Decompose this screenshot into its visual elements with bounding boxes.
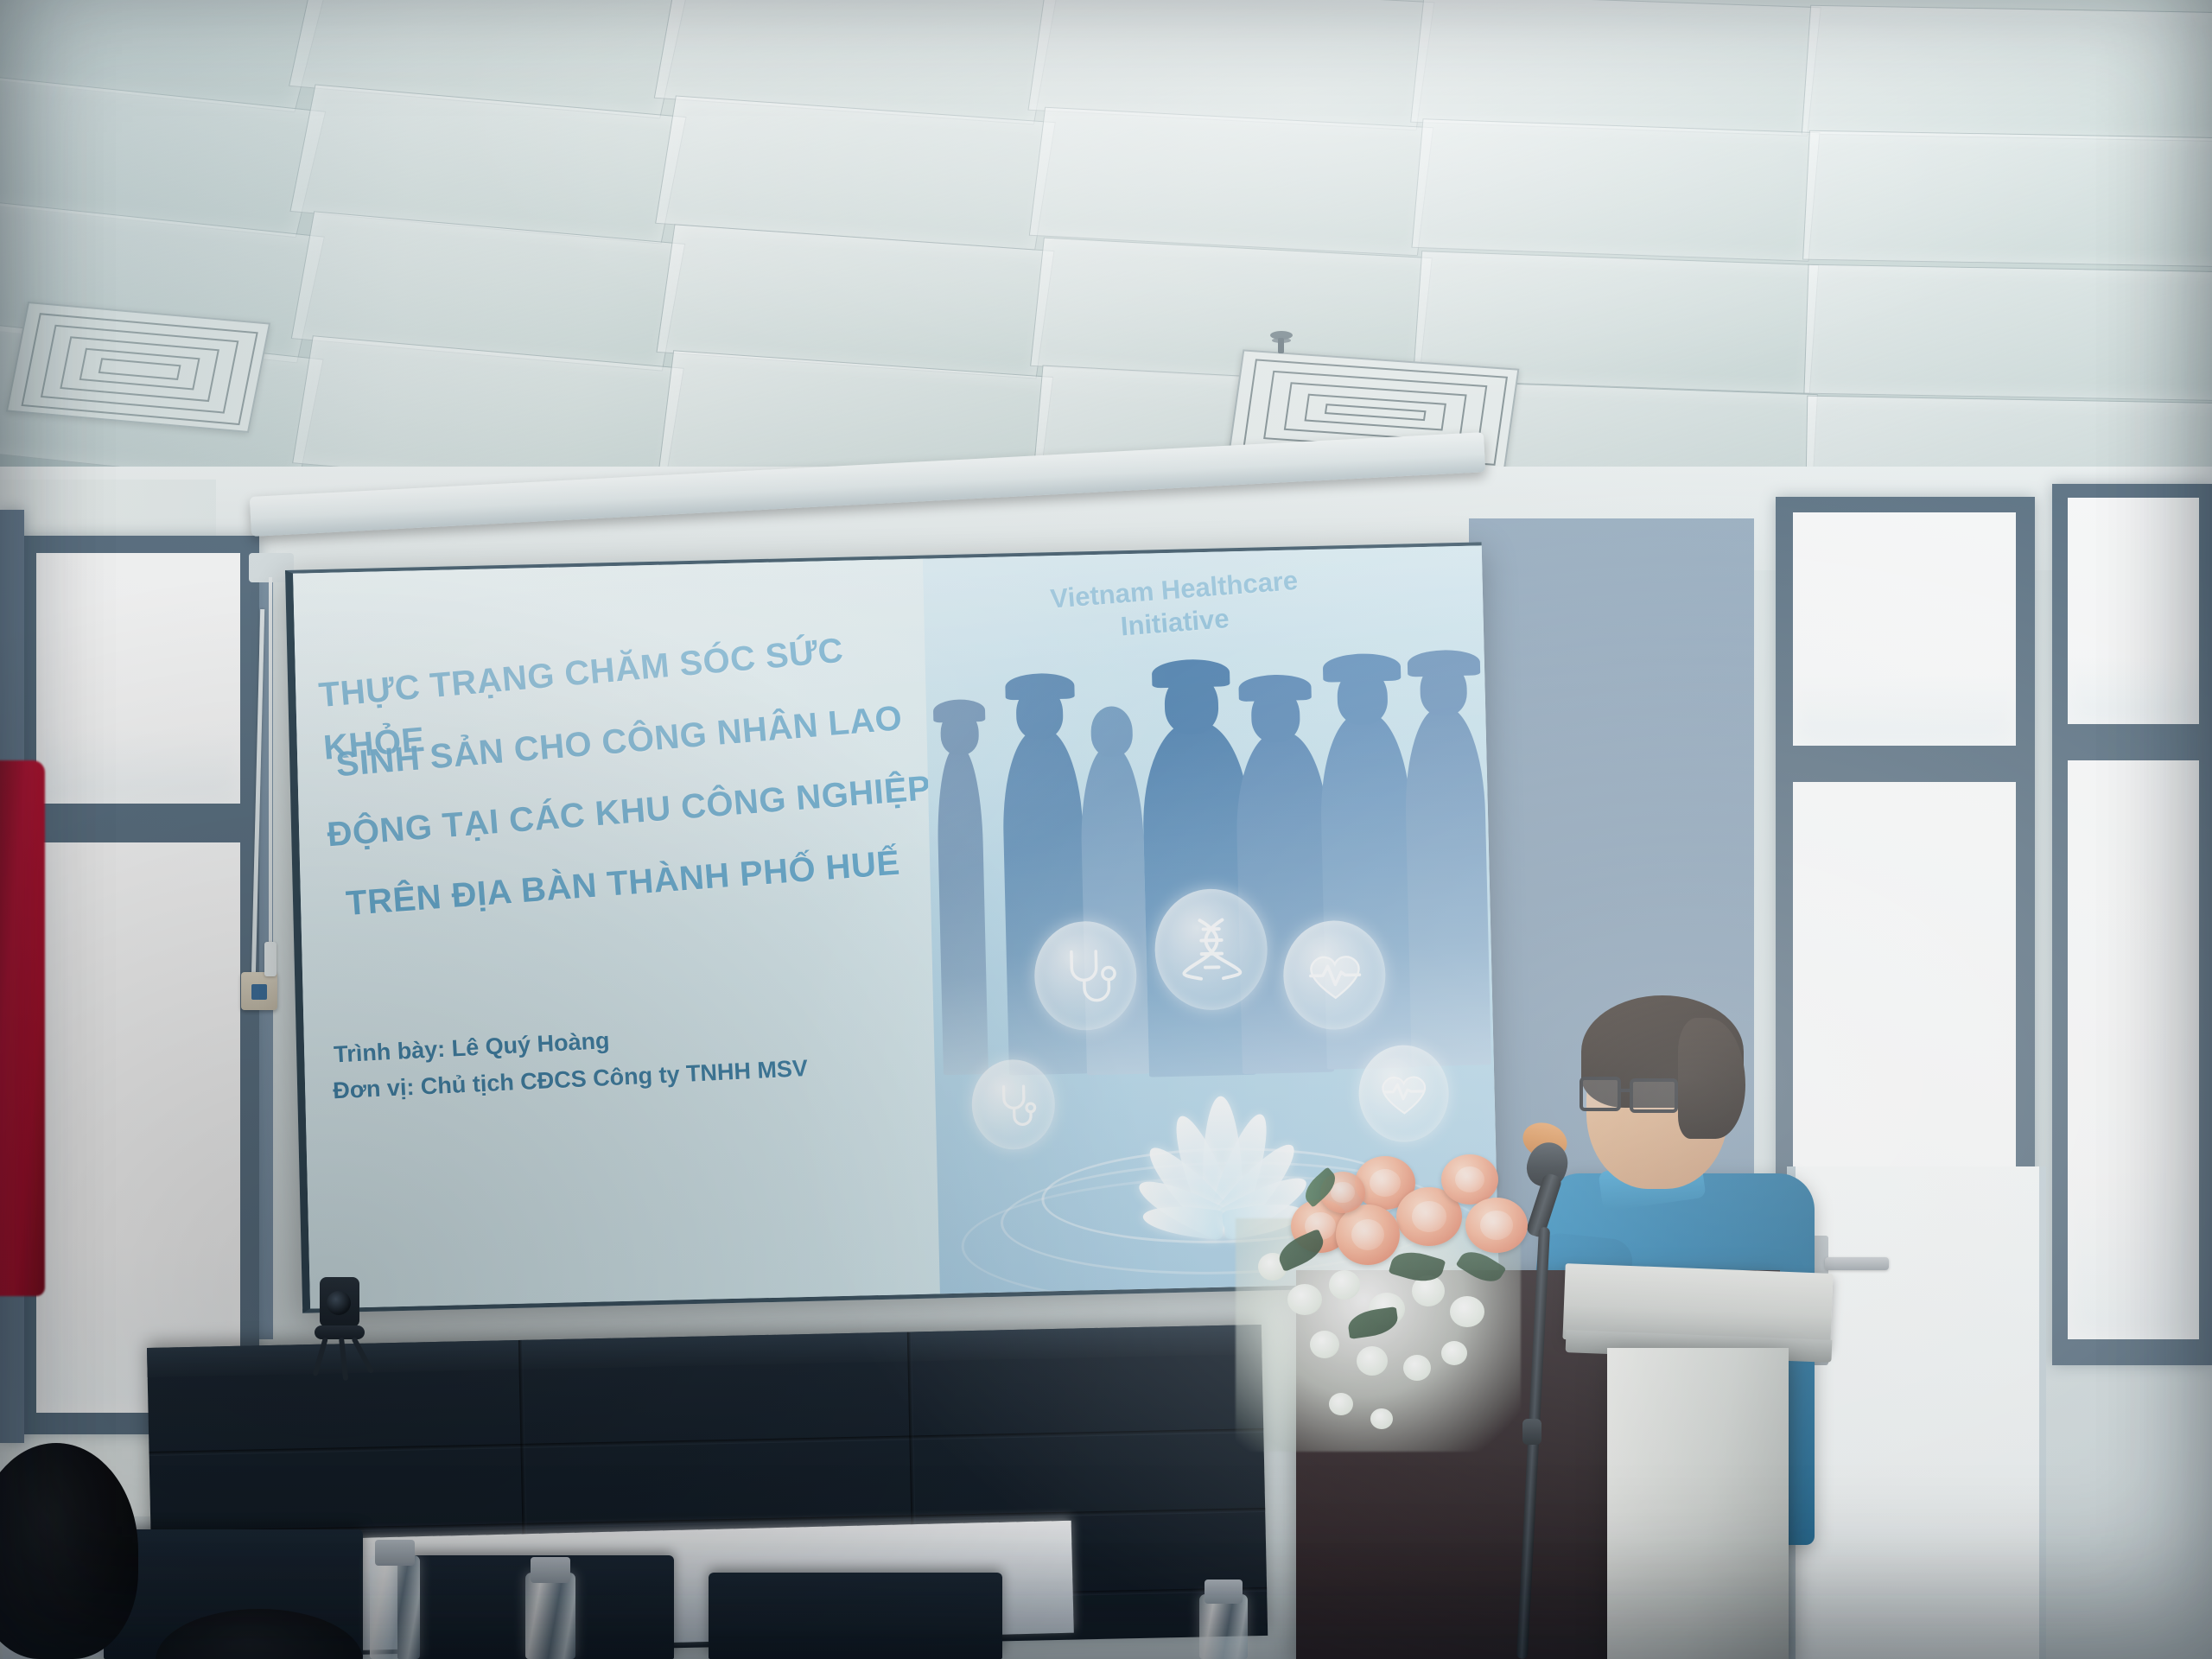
ceiling-tile	[1411, 118, 1820, 262]
worker-head	[1090, 706, 1133, 757]
hard-hat-icon	[1238, 674, 1312, 702]
conference-photo-scene: THỰC TRẠNG CHĂM SÓC SỨC KHỎE SINH SẢN CH…	[0, 0, 2212, 1659]
ceiling-tile	[1802, 130, 2212, 268]
ceiling-tile	[1803, 264, 2212, 402]
window-pane-lower	[36, 842, 240, 1413]
slide-left-half: THỰC TRẠNG CHĂM SÓC SỨC KHỎE SINH SẢN CH…	[293, 559, 940, 1309]
babys-breath-cluster	[1310, 1331, 1339, 1358]
babys-breath-cluster	[1450, 1296, 1484, 1327]
flower-arrangement	[1227, 1123, 1573, 1486]
window-mullion	[1776, 747, 2035, 766]
window-pane-upper	[36, 553, 240, 804]
hard-hat-icon	[1323, 653, 1402, 683]
heart-ecg-small-glyph	[1375, 1062, 1433, 1125]
water-bottle[interactable]	[1199, 1594, 1248, 1659]
window-left	[17, 536, 259, 1434]
wall-socket	[241, 972, 277, 1010]
window-mullion	[17, 805, 259, 824]
babys-breath-cluster	[1403, 1355, 1431, 1381]
cabinet-groove	[149, 1428, 1264, 1456]
water-bottle[interactable]	[525, 1573, 575, 1659]
stethoscope-small-glyph	[987, 1075, 1041, 1134]
bottle-cap[interactable]	[1205, 1580, 1243, 1604]
babys-breath-cluster	[1329, 1393, 1353, 1415]
sprinkler-head-icon	[1270, 331, 1293, 340]
babys-breath-cluster	[1370, 1408, 1393, 1429]
rose-flower	[1336, 1205, 1400, 1265]
window-pane-lower	[2068, 760, 2199, 1339]
heart-ecg-glyph	[1301, 939, 1368, 1010]
ac-vent-left	[6, 302, 270, 433]
eyeglasses-left-lens-icon	[1580, 1077, 1621, 1111]
rose-flower	[1465, 1198, 1528, 1253]
ceiling-tile	[1410, 0, 1821, 137]
babys-breath-cluster	[1329, 1270, 1360, 1300]
babys-breath-cluster	[1357, 1346, 1388, 1376]
screen-pull-weight[interactable]	[264, 942, 276, 976]
camera-lens-icon	[327, 1291, 351, 1315]
screen-pull-cord[interactable]	[269, 577, 272, 949]
window-mullion	[2052, 726, 2212, 745]
babys-breath-cluster	[1441, 1341, 1467, 1365]
conference-chair[interactable]	[709, 1573, 1002, 1659]
worker-silhouette	[936, 746, 988, 1075]
babys-breath-cluster	[1287, 1284, 1322, 1315]
bottle-cap[interactable]	[375, 1540, 415, 1566]
rose-flower	[1441, 1154, 1498, 1205]
window-pane-upper	[1793, 512, 2016, 746]
camera-on-tripod	[304, 1277, 375, 1363]
bottle-cap[interactable]	[531, 1557, 570, 1583]
red-flag	[0, 760, 45, 1296]
ceiling-tile	[1029, 107, 1433, 257]
hard-hat-icon	[1152, 658, 1230, 688]
stethoscope-glyph	[1052, 940, 1119, 1011]
podium-column	[1607, 1348, 1789, 1659]
hard-hat-icon	[933, 699, 986, 722]
hard-hat-icon	[1408, 649, 1481, 677]
worker-silhouette	[1403, 706, 1491, 1066]
hard-hat-icon	[1005, 673, 1075, 701]
dna-glyph	[1174, 910, 1248, 989]
eyeglasses-right-lens-icon	[1630, 1078, 1678, 1113]
window-pane-upper	[2068, 498, 2199, 724]
water-bottle[interactable]	[370, 1555, 420, 1659]
ceiling-tile	[1802, 5, 2212, 143]
window-right-b	[2052, 484, 2212, 1365]
eyeglasses-bridge	[1619, 1089, 1633, 1092]
